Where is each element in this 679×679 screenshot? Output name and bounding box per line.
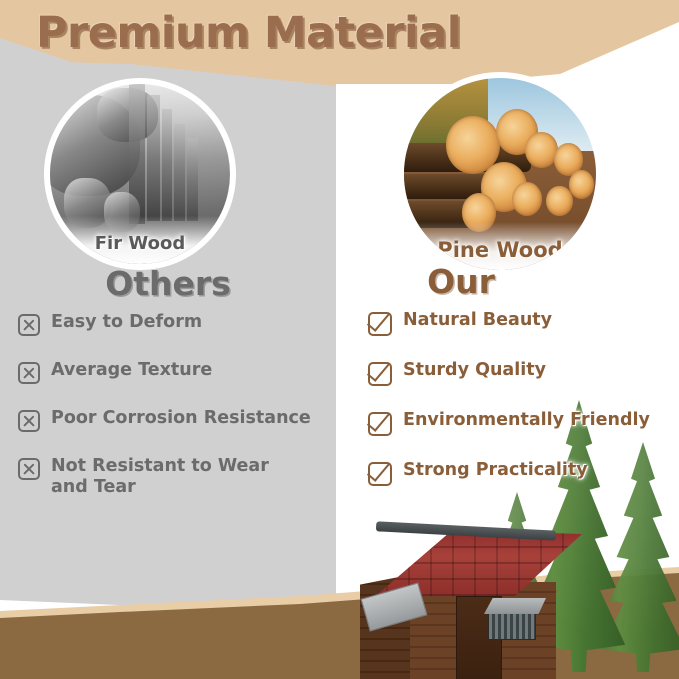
wooden-dog-house-photo xyxy=(338,520,586,679)
list-item-label: Sturdy Quality xyxy=(403,360,546,381)
our-feature-list: Natural Beauty Sturdy Quality Environmen… xyxy=(368,310,668,510)
list-item: Poor Corrosion Resistance xyxy=(18,408,338,432)
list-item: Average Texture xyxy=(18,360,338,384)
list-item: Easy to Deform xyxy=(18,312,338,336)
cross-icon xyxy=(18,314,40,336)
list-item: Natural Beauty xyxy=(368,310,668,336)
list-item-label: Strong Practicality xyxy=(403,460,588,481)
page-title: Premium Material xyxy=(36,8,461,58)
check-icon xyxy=(368,462,392,486)
list-item-label: Average Texture xyxy=(51,360,212,381)
list-item-label: Natural Beauty xyxy=(403,310,552,331)
list-item-label: Poor Corrosion Resistance xyxy=(51,408,311,429)
pine-wood-label: Pine Wood xyxy=(404,238,596,262)
our-heading: Our xyxy=(336,262,586,301)
cross-icon xyxy=(18,362,40,384)
list-item: Strong Practicality xyxy=(368,460,668,486)
others-feature-list: Easy to Deform Average Texture Poor Corr… xyxy=(18,312,338,523)
list-item-label: Not Resistant to Wear and Tear xyxy=(51,456,287,499)
list-item: Not Resistant to Wear and Tear xyxy=(18,456,338,499)
list-item-label: Environmentally Friendly xyxy=(403,410,650,431)
list-item-label: Easy to Deform xyxy=(51,312,202,333)
doghouse-window-awning xyxy=(484,598,546,614)
fir-wood-circle: Fir Wood xyxy=(50,84,230,264)
check-icon xyxy=(368,312,392,336)
fir-wood-label: Fir Wood xyxy=(50,233,230,254)
check-icon xyxy=(368,362,392,386)
others-heading: Others xyxy=(0,264,336,303)
infographic-canvas: Premium Material Fir Wood xyxy=(0,0,679,679)
list-item: Sturdy Quality xyxy=(368,360,668,386)
check-icon xyxy=(368,412,392,436)
pine-wood-circle: Pine Wood xyxy=(404,78,596,270)
cross-icon xyxy=(18,410,40,432)
list-item: Environmentally Friendly xyxy=(368,410,668,436)
cross-icon xyxy=(18,458,40,480)
